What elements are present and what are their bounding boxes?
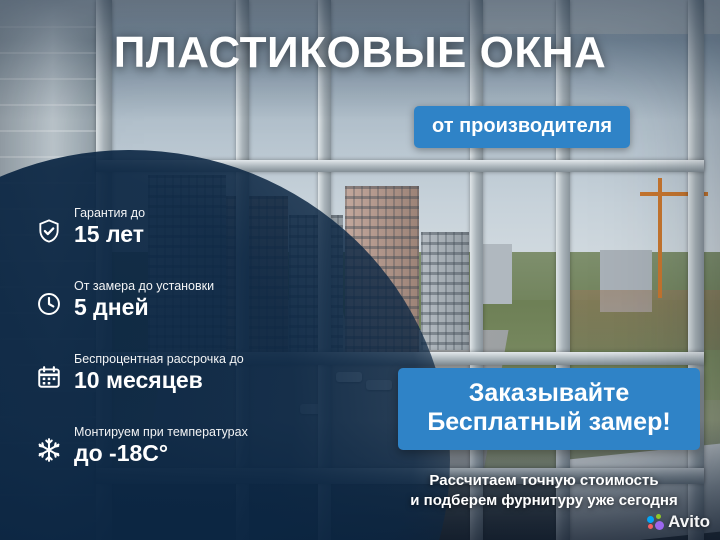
list-item: Монтируем при температурах до -18C° [36, 425, 286, 471]
clock-icon [36, 291, 62, 317]
feature-value: 5 дней [74, 294, 286, 321]
feature-label: Монтируем при температурах [74, 425, 286, 439]
snowflake-icon [36, 437, 62, 463]
calendar-icon [36, 364, 62, 390]
feature-label: Беспроцентная рассрочка до [74, 352, 286, 366]
feature-label: От замера до установки [74, 279, 286, 293]
page-title: ПЛАСТИКОВЫЕ ОКНА [0, 28, 720, 78]
avito-wordmark: Avito [668, 512, 710, 532]
feature-list: Гарантия до 15 лет От замера до установк… [36, 206, 286, 498]
list-item: Гарантия до 15 лет [36, 206, 286, 252]
list-item: Беспроцентная рассрочка до 10 месяцев [36, 352, 286, 398]
feature-value: 10 месяцев [74, 367, 286, 394]
feature-value: до -18C° [74, 440, 286, 467]
building-windows [421, 232, 469, 350]
cta-subtext-line-1: Рассчитаем точную стоимость [398, 471, 690, 491]
list-item: От замера до установки 5 дней [36, 279, 286, 325]
avito-watermark: Avito [647, 512, 710, 532]
cta-banner[interactable]: Заказывайте Бесплатный замер! [398, 368, 700, 450]
cta-line-2: Бесплатный замер! [404, 407, 694, 437]
advertisement-banner: ПЛАСТИКОВЫЕ ОКНА от производителя Гарант… [0, 0, 720, 540]
manufacturer-badge: от производителя [414, 106, 630, 148]
cta-line-1: Заказывайте [404, 379, 694, 407]
shield-check-icon [36, 218, 62, 244]
feature-value: 15 лет [74, 221, 286, 248]
cta-subtext: Рассчитаем точную стоимость и подберем ф… [398, 471, 690, 511]
building [421, 232, 469, 350]
cta-subtext-line-2: и подберем фурнитуру уже сегодня [398, 491, 690, 511]
avito-logo-icon [647, 514, 664, 531]
feature-label: Гарантия до [74, 206, 286, 220]
